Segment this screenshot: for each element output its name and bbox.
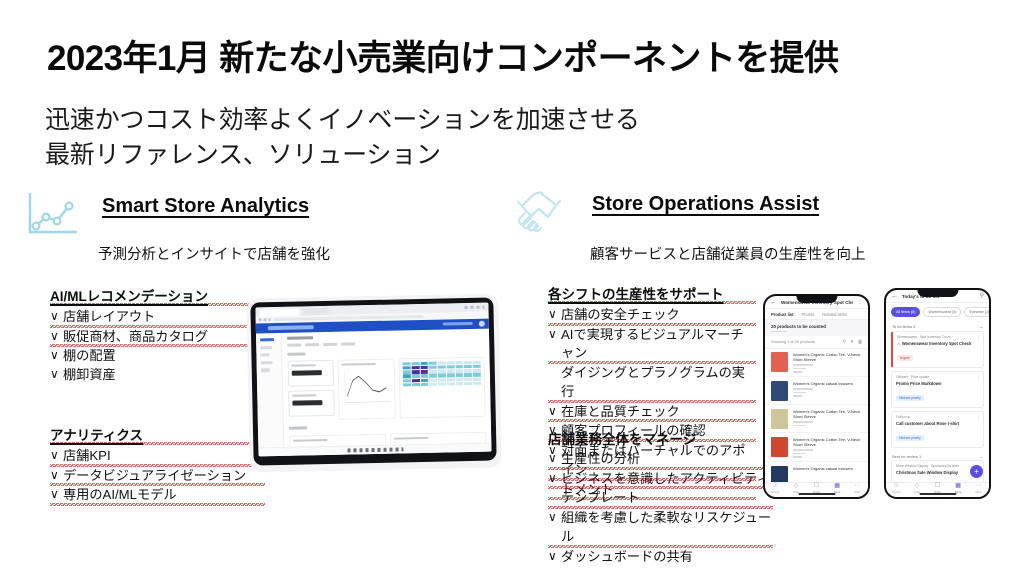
heatmap-cell	[473, 377, 481, 381]
inventory-spot-check-phone: ← Womenswear Inventory Spot Check ⋮ Prod…	[763, 294, 870, 499]
product-name: Women's Organic casual trousers	[793, 466, 862, 471]
more-icon: ⋯	[976, 483, 982, 489]
chart-title	[342, 363, 376, 366]
task-title: Christmas Sale Window Display	[896, 470, 979, 475]
section-label	[287, 353, 305, 356]
kpi-card	[288, 360, 335, 387]
product-thumbnail	[771, 437, 788, 457]
nav-wallet[interactable]: ☐ Wallet	[806, 483, 827, 497]
phone1-banner: 20 products to be counted	[765, 320, 868, 336]
line-chart-icon	[24, 190, 80, 238]
app-body	[256, 329, 492, 457]
subtitle-line-2: 最新リファレンス、ソリューション	[45, 138, 640, 173]
search-icon[interactable]: ⚲	[980, 293, 984, 299]
heatmap-cell	[438, 370, 446, 374]
todo-list-phone: ← Today's to do list ⚲ All items (6) Wom…	[884, 288, 991, 499]
chevron-down-icon[interactable]: ⌄	[980, 324, 983, 329]
heatmap-cell	[464, 377, 472, 381]
overflow-menu-icon[interactable]: ⋮	[976, 335, 980, 340]
list-item: 店舗レイアウト	[50, 308, 255, 328]
task-meta-row: WomenswearSpot Inventory Count	[897, 335, 979, 339]
kpi-value	[292, 370, 322, 376]
heatmap-cell	[473, 381, 481, 385]
task-meta-row: Store Window DisplaySponsored by store	[896, 464, 979, 468]
heatmap-cell	[420, 370, 428, 374]
phone2-filter-chips[interactable]: All items (6) Womenswear (3) Eyewear (1)	[886, 303, 989, 321]
product-name: Women's Organic Cotton Tee, V-Neck Short…	[793, 409, 862, 419]
product-attribute	[793, 449, 813, 451]
chip-eyewear[interactable]: Eyewear (1)	[964, 307, 989, 317]
product-name: Women's Organic Cotton Tee, V-Neck Short…	[793, 352, 862, 362]
kpi-value	[292, 400, 322, 406]
task-meta-row: Follow up	[896, 415, 979, 419]
tablet-screen	[255, 303, 491, 457]
heatmap-cell	[429, 382, 437, 386]
heatmap-cell	[420, 366, 428, 370]
heatmap-cell	[412, 383, 420, 387]
heatmap-cell	[412, 370, 420, 374]
heatmap-cell	[473, 361, 481, 365]
heatmap-cell	[473, 365, 481, 369]
priority-badge: Medium priority	[896, 395, 924, 401]
bullet-list: 店舗KPI データビジュアライゼーション 専用のAI/MLモデル	[50, 447, 265, 506]
search-icon[interactable]: ⚲	[842, 339, 845, 345]
list-item: 組織を考慮した柔軟なリスケジュール	[548, 509, 773, 547]
list-item: 店舗KPI	[50, 447, 265, 467]
heatmap-cell	[438, 382, 446, 386]
handshake-icon	[512, 186, 570, 236]
product-meta: Women's Organic Cotton Tee, V-Neck Short…	[793, 437, 862, 458]
bell-icon: ☉	[894, 483, 899, 489]
phone2-bottom-nav[interactable]: ☉ Activity ◇ Chat ☐ Wallet ▦ Store ⋯ M	[886, 482, 989, 497]
dashboard-heading	[287, 336, 313, 340]
task-subtag: Price update	[911, 375, 930, 379]
priority-badge: Medium priority	[896, 435, 924, 441]
heatmap-cell	[403, 370, 411, 374]
taskbar-icons[interactable]	[347, 447, 403, 452]
nav-chat[interactable]: ◇ Chat	[907, 483, 928, 497]
filter-chip[interactable]	[323, 343, 337, 346]
list-item-continuation: ダイジングとプラノグラムの実行	[548, 364, 756, 402]
chevron-down-icon[interactable]: ⌄	[980, 454, 983, 459]
heatmap-cell	[438, 374, 446, 378]
phone1-showing-row: Showing 1 of 20 products ⚲ ▾ ≣	[765, 336, 868, 349]
tablet-bezel	[250, 297, 496, 465]
list-item: 棚卸資産	[50, 366, 255, 385]
heatmap-cell	[420, 378, 428, 382]
heatmap-cell	[403, 375, 411, 379]
task-card[interactable]: GiftwarePrice updatePromo Price Markdown…	[891, 371, 984, 408]
kpi-label	[292, 394, 316, 397]
section-subtitle-analytics: 予測分析とインサイトで店舗を強化	[98, 243, 330, 264]
store-icon: ▦	[955, 483, 961, 489]
chip-womenswear[interactable]: Womenswear (3)	[923, 307, 961, 317]
kpi-and-charts-row	[288, 356, 486, 420]
task-group-label: To do items 3⌄	[886, 321, 989, 331]
heatmap-cell	[455, 369, 463, 373]
heatmap-cell	[438, 365, 446, 369]
kpi-card	[288, 390, 335, 417]
block-heading: AI/MLレコメンデーション	[50, 285, 255, 306]
list-item: AIで実現するビジュアルマーチャン	[548, 326, 756, 364]
product-attribute	[793, 425, 806, 427]
list-item[interactable]: Women's Organic Cotton Tee, V-Neck Short…	[765, 433, 868, 462]
heatmap-cell	[438, 361, 446, 365]
heatmap-card	[399, 356, 486, 418]
list-item[interactable]: Women's Organic Cotton Tee, V-Neck Short…	[765, 405, 868, 433]
heatmap-cell	[411, 362, 419, 366]
page-title: 2023年1月 新たな小売業向けコンポーネントを提供	[47, 30, 838, 81]
heatmap-cell	[473, 369, 481, 373]
heatmap-cell	[455, 373, 463, 377]
subtitle-line-1: 迅速かつコスト効率よくイノベーションを加速させる	[45, 103, 640, 138]
task-card[interactable]: Follow upCall customer about Rose t-shir…	[891, 411, 984, 448]
heatmap-cell	[421, 383, 429, 387]
product-attribute	[793, 371, 802, 373]
nav-label: Activity	[771, 490, 780, 494]
task-subtag: Spot Inventory Count	[920, 335, 951, 339]
product-attribute	[793, 388, 813, 390]
showing-count: Showing 1 of 20 products	[771, 339, 815, 344]
list-item: 店舗の安全チェック	[548, 306, 756, 326]
heatmap-cell	[412, 379, 420, 383]
section-label	[289, 426, 307, 429]
window-controls-icon[interactable]	[464, 306, 484, 309]
list-item: データビジュアライゼーション	[50, 467, 265, 487]
back-arrow-icon[interactable]: ←	[770, 299, 777, 306]
group-title: To do items 3	[892, 324, 915, 329]
heatmap-cell	[412, 374, 420, 378]
nav-chat[interactable]: ◇ Chat	[786, 483, 807, 497]
heatmap-cell	[429, 370, 437, 374]
sidebar-item[interactable]	[261, 368, 270, 371]
phone-notch	[796, 296, 837, 303]
product-name: Women's Organic casual trousers	[793, 381, 862, 386]
store-icon: ▦	[834, 483, 840, 489]
heatmap-cell	[455, 361, 463, 365]
block-heading: 各シフトの生産性をサポート	[548, 283, 756, 304]
app-header-title	[268, 325, 314, 330]
list-item: 専用のAI/MLモデル	[50, 486, 265, 506]
nav-label: More	[854, 490, 860, 494]
product-attribute	[793, 368, 806, 370]
task-tag: Follow up	[896, 415, 910, 419]
nav-wallet[interactable]: ☐ Wallet	[927, 483, 948, 497]
block-analytics: アナリティクス 店舗KPI データビジュアライゼーション 専用のAI/MLモデル	[50, 424, 265, 506]
line-chart-card	[338, 358, 396, 419]
nav-store[interactable]: ▦ Store	[827, 483, 848, 497]
heatmap-icon	[403, 361, 481, 387]
app-header-action[interactable]	[443, 322, 473, 326]
analytics-dashboard-tablet	[250, 297, 496, 465]
task-subtag: Sponsored by store	[931, 464, 960, 468]
bell-icon: ☉	[773, 483, 778, 489]
phone1-tabs[interactable]: Product list Photos Related items	[765, 309, 868, 320]
filter-chip[interactable]	[287, 344, 301, 347]
slide-canvas: 2023年1月 新たな小売業向けコンポーネントを提供 迅速かつコスト効率よくイノ…	[0, 0, 1024, 575]
heatmap-cell	[403, 379, 411, 383]
product-name: Women's Organic Cotton Tee, V-Neck Short…	[793, 437, 862, 447]
dashboard-main	[282, 329, 492, 456]
phone-screen: ← Today's to do list ⚲ All items (6) Wom…	[886, 290, 989, 497]
product-meta: Women's Organic Cotton Tee, V-Neck Short…	[793, 352, 862, 373]
heatmap-cell	[411, 366, 419, 370]
filter-chip[interactable]	[305, 344, 319, 347]
group-title: Sent for review 1	[892, 454, 921, 459]
nav-label: More	[975, 490, 981, 494]
task-tag: Womenswear	[897, 335, 917, 339]
heatmap-cell	[473, 373, 481, 377]
block-manage-store-operations: 店舗業務全体をマネージ 生産性の分析 ビジネスを意識したアクティビティ テンプレ…	[548, 428, 773, 566]
home-indicator	[919, 493, 956, 495]
kpi-column	[288, 360, 335, 421]
banner-text: 20 products to be counted	[771, 324, 862, 329]
list-item: 販促商材、商品カタログ	[50, 328, 255, 348]
product-meta: Women's Organic casual trousers	[793, 381, 862, 401]
section-title-analytics: Smart Store Analytics	[102, 195, 309, 218]
phone1-product-list[interactable]: Women's Organic Cotton Tee, V-Neck Short…	[765, 349, 868, 491]
heatmap-cell	[438, 378, 446, 382]
heatmap-cell	[403, 362, 411, 366]
heatmap-cell	[464, 361, 472, 365]
list-item[interactable]: Women's Organic casual trousers	[765, 377, 868, 405]
heatmap-cell	[455, 365, 463, 369]
heatmap-cell	[446, 361, 454, 365]
heatmap-cell	[464, 369, 472, 373]
nav-more[interactable]: ⋯ More	[968, 483, 989, 497]
heatmap-cell	[403, 366, 411, 370]
task-title: Call customer about Rose t-shirt	[896, 421, 979, 426]
banner-underline	[771, 331, 787, 333]
product-thumbnail	[771, 381, 788, 401]
nav-activity[interactable]: ☉ Activity	[765, 483, 786, 497]
list-item[interactable]: Women's Organic Cotton Tee, V-Neck Short…	[765, 349, 868, 378]
product-attribute	[793, 456, 802, 458]
kpi-label	[292, 364, 316, 367]
heatmap-cell	[464, 365, 472, 369]
chart-title	[394, 436, 428, 439]
heatmap-cell	[464, 373, 472, 377]
dashboard-sidebar	[256, 333, 285, 457]
list-item: 在庫と品質チェック	[548, 403, 756, 423]
overflow-menu-icon[interactable]: ⋮	[976, 415, 980, 420]
more-icon: ⋯	[855, 483, 861, 489]
product-attribute	[793, 453, 806, 455]
task-title: Promo Price Markdown	[896, 381, 979, 386]
heatmap-cell	[456, 382, 464, 386]
wallet-icon: ☐	[935, 483, 940, 489]
bullet-list: 店舗レイアウト 販促商材、商品カタログ 棚の配置 棚卸資産	[50, 308, 255, 385]
block-heading: 店舗業務全体をマネージ	[548, 428, 773, 448]
product-attribute	[793, 364, 813, 366]
tab-product-list[interactable]: Product list	[771, 312, 794, 317]
block-ai-ml-recommendation: AI/MLレコメンデーション 店舗レイアウト 販促商材、商品カタログ 棚の配置 …	[50, 285, 255, 385]
nav-activity[interactable]: ☉ Activity	[886, 483, 907, 497]
heatmap-cell	[429, 366, 437, 370]
chip-all-items[interactable]: All items (6)	[891, 307, 920, 317]
task-title: ⚠ Womenswear Inventory Spot Check	[897, 341, 979, 346]
line-chart-icon	[342, 368, 392, 411]
heatmap-cell	[447, 369, 455, 373]
filter-row[interactable]	[287, 340, 484, 347]
product-attribute	[793, 392, 806, 394]
page-subtitle: 迅速かつコスト効率よくイノベーションを加速させる 最新リファレンス、ソリューショ…	[45, 103, 640, 172]
list-item-continuation: テンプレート	[548, 489, 773, 509]
sidebar-item[interactable]	[261, 361, 273, 364]
sidebar-item-active[interactable]	[260, 338, 274, 341]
section-subtitle-operations: 顧客サービスと店舗従業員の生産性を向上	[590, 243, 866, 264]
list-item: 棚の配置	[50, 347, 255, 366]
list-item: 生産性の分析	[548, 450, 773, 470]
task-tag: Store Window Display	[896, 464, 928, 468]
overflow-menu-icon[interactable]: ⋮	[857, 299, 863, 305]
heatmap-cell	[464, 382, 472, 386]
phone-screen: ← Womenswear Inventory Spot Check ⋮ Prod…	[765, 296, 868, 497]
sort-icon[interactable]: ≣	[858, 339, 862, 345]
product-attribute	[793, 395, 802, 397]
block-heading: アナリティクス	[50, 424, 265, 445]
section-title-operations: Store Operations Assist	[592, 193, 819, 216]
product-thumbnail	[771, 409, 788, 429]
filter-icon[interactable]: ▾	[851, 339, 853, 345]
chat-icon: ◇	[915, 483, 920, 489]
back-arrow-icon[interactable]: ←	[891, 293, 898, 300]
list-controls[interactable]: ⚲ ▾ ≣	[842, 339, 862, 345]
tab-related-items[interactable]: Related items	[822, 312, 847, 317]
filter-chip[interactable]	[341, 343, 355, 346]
task-tag: Giftware	[896, 375, 908, 379]
tab-photos[interactable]: Photos	[802, 312, 815, 317]
priority-badge: Urgent	[897, 355, 913, 361]
avatar[interactable]	[479, 321, 485, 327]
heatmap-cell	[429, 378, 437, 382]
product-meta: Women's Organic Cotton Tee, V-Neck Short…	[793, 409, 862, 429]
home-indicator	[798, 493, 835, 495]
heatmap-cell	[446, 365, 454, 369]
list-item: ビジネスを意識したアクティビティ	[548, 470, 773, 490]
nav-more[interactable]: ⋯ More	[847, 483, 868, 497]
phone-notch	[917, 290, 958, 297]
heatmap-cell	[447, 378, 455, 382]
task-meta-row: GiftwarePrice update	[896, 375, 979, 379]
bullet-list: 生産性の分析 ビジネスを意識したアクティビティ テンプレート 組織を考慮した柔軟…	[548, 450, 773, 566]
alert-icon: ⚠	[897, 341, 902, 346]
nav-store[interactable]: ▦ Store	[948, 483, 969, 497]
heatmap-cell	[429, 361, 437, 365]
product-attribute	[793, 421, 813, 423]
overflow-menu-icon[interactable]: ⋮	[976, 375, 980, 380]
task-group-label: Sent for review 1⌄	[886, 451, 989, 461]
phone1-bottom-nav[interactable]: ☉ Activity ◇ Chat ☐ Wallet ▦ Store ⋯ M	[765, 482, 868, 497]
heatmap-cell	[447, 374, 455, 378]
add-task-fab[interactable]: +	[970, 465, 983, 478]
chart-title	[293, 439, 327, 442]
heatmap-cell	[429, 374, 437, 378]
heatmap-cell	[420, 374, 428, 378]
browser-tab[interactable]	[302, 307, 328, 315]
wallet-icon: ☐	[814, 483, 819, 489]
task-card[interactable]: WomenswearSpot Inventory Count⚠ Womenswe…	[891, 331, 984, 368]
chat-icon: ◇	[794, 483, 799, 489]
heatmap-cell	[455, 378, 463, 382]
product-thumbnail	[771, 352, 788, 372]
sidebar-item[interactable]	[260, 353, 269, 356]
list-item: ダッシュボードの共有	[548, 548, 773, 567]
heatmap-cell	[447, 382, 455, 386]
nav-label: Activity	[892, 490, 901, 494]
heatmap-cell	[420, 362, 428, 366]
heatmap-cell	[403, 383, 411, 387]
sidebar-item[interactable]	[260, 346, 272, 349]
